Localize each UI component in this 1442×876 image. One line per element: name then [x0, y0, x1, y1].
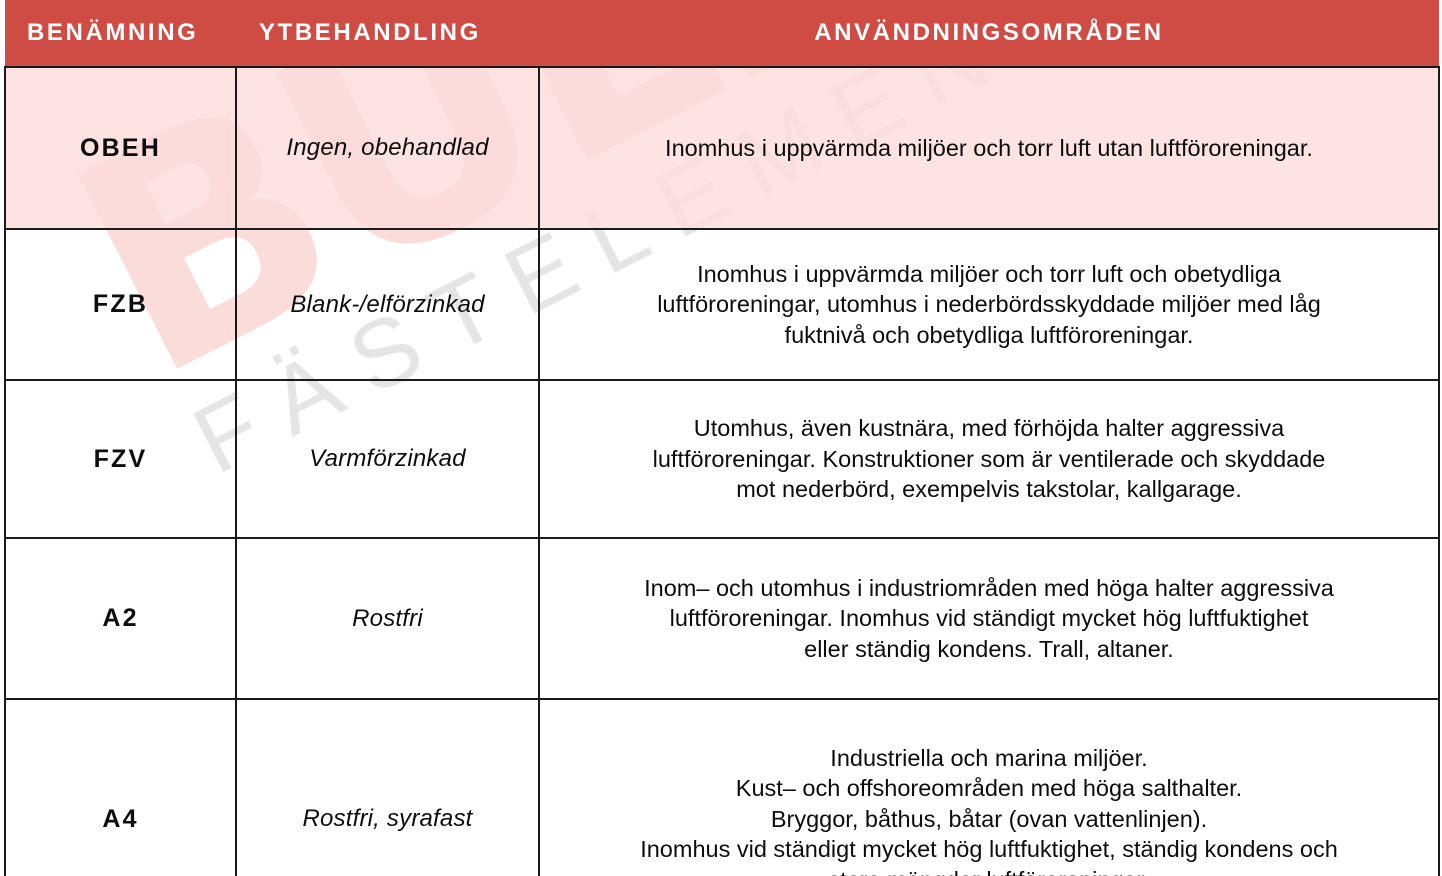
cell-surface: Varmförzinkad [236, 380, 539, 538]
cell-usage: Utomhus, även kustnära, med förhöjda hal… [539, 380, 1439, 538]
usage-line: stora mängder luftföroreningar. [556, 865, 1422, 876]
usage-line: luftföroreningar, utomhus i nederbördssk… [556, 289, 1422, 320]
cell-usage: Inom– och utomhus i industriområden med … [539, 538, 1439, 699]
table-row: A4 Rostfri, syrafast Industriella och ma… [5, 699, 1439, 876]
usage-line: Bryggor, båthus, båtar (ovan vattenlinje… [556, 804, 1422, 835]
table-body: OBEH Ingen, obehandlad Inomhus i uppvärm… [5, 67, 1439, 876]
table-row: OBEH Ingen, obehandlad Inomhus i uppvärm… [5, 67, 1439, 229]
cell-code: OBEH [5, 67, 236, 229]
usage-line: Inomhus vid ständigt mycket hög luftfukt… [556, 834, 1422, 865]
usage-line: Inom– och utomhus i industriområden med … [556, 573, 1422, 604]
usage-line: Kust– och offshoreområden med höga salth… [556, 773, 1422, 804]
cell-code: A2 [5, 538, 236, 699]
cell-usage: Inomhus i uppvärmda miljöer och torr luf… [539, 229, 1439, 380]
column-header-benamning: BENÄMNING [5, 0, 236, 67]
usage-line: fuktnivå och obetydliga luftföroreningar… [556, 320, 1422, 351]
table-header-row: BENÄMNING YTBEHANDLING ANVÄNDNINGSOMRÅDE… [5, 0, 1439, 67]
usage-line: Inomhus i uppvärmda miljöer och torr luf… [556, 133, 1422, 164]
page-root: BULTAB FÄSTELEMENT BENÄMNING YTBEHANDLIN… [0, 0, 1442, 876]
column-header-ytbehandling: YTBEHANDLING [236, 0, 539, 67]
usage-line: luftföroreningar. Inomhus vid ständigt m… [556, 603, 1422, 634]
usage-line: mot nederbörd, exempelvis takstolar, kal… [556, 474, 1422, 505]
cell-surface: Blank-/elförzinkad [236, 229, 539, 380]
surface-treatment-table: BENÄMNING YTBEHANDLING ANVÄNDNINGSOMRÅDE… [4, 0, 1440, 876]
cell-code: A4 [5, 699, 236, 876]
table-header: BENÄMNING YTBEHANDLING ANVÄNDNINGSOMRÅDE… [5, 0, 1439, 67]
column-header-anvandningsomraden: ANVÄNDNINGSOMRÅDEN [539, 0, 1439, 67]
usage-line: luftföroreningar. Konstruktioner som är … [556, 444, 1422, 475]
table-row: FZV Varmförzinkad Utomhus, även kustnära… [5, 380, 1439, 538]
usage-line: Industriella och marina miljöer. [556, 743, 1422, 774]
cell-code: FZB [5, 229, 236, 380]
cell-usage: Inomhus i uppvärmda miljöer och torr luf… [539, 67, 1439, 229]
usage-line: Utomhus, även kustnära, med förhöjda hal… [556, 413, 1422, 444]
table-row: A2 Rostfri Inom– och utomhus i industrio… [5, 538, 1439, 699]
cell-surface: Ingen, obehandlad [236, 67, 539, 229]
table-row: FZB Blank-/elförzinkad Inomhus i uppvärm… [5, 229, 1439, 380]
usage-line: eller ständig kondens. Trall, altaner. [556, 634, 1422, 665]
usage-line: Inomhus i uppvärmda miljöer och torr luf… [556, 259, 1422, 290]
cell-code: FZV [5, 380, 236, 538]
cell-surface: Rostfri, syrafast [236, 699, 539, 876]
surface-treatment-table-container: BENÄMNING YTBEHANDLING ANVÄNDNINGSOMRÅDE… [0, 0, 1442, 876]
cell-usage: Industriella och marina miljöer. Kust– o… [539, 699, 1439, 876]
cell-surface: Rostfri [236, 538, 539, 699]
